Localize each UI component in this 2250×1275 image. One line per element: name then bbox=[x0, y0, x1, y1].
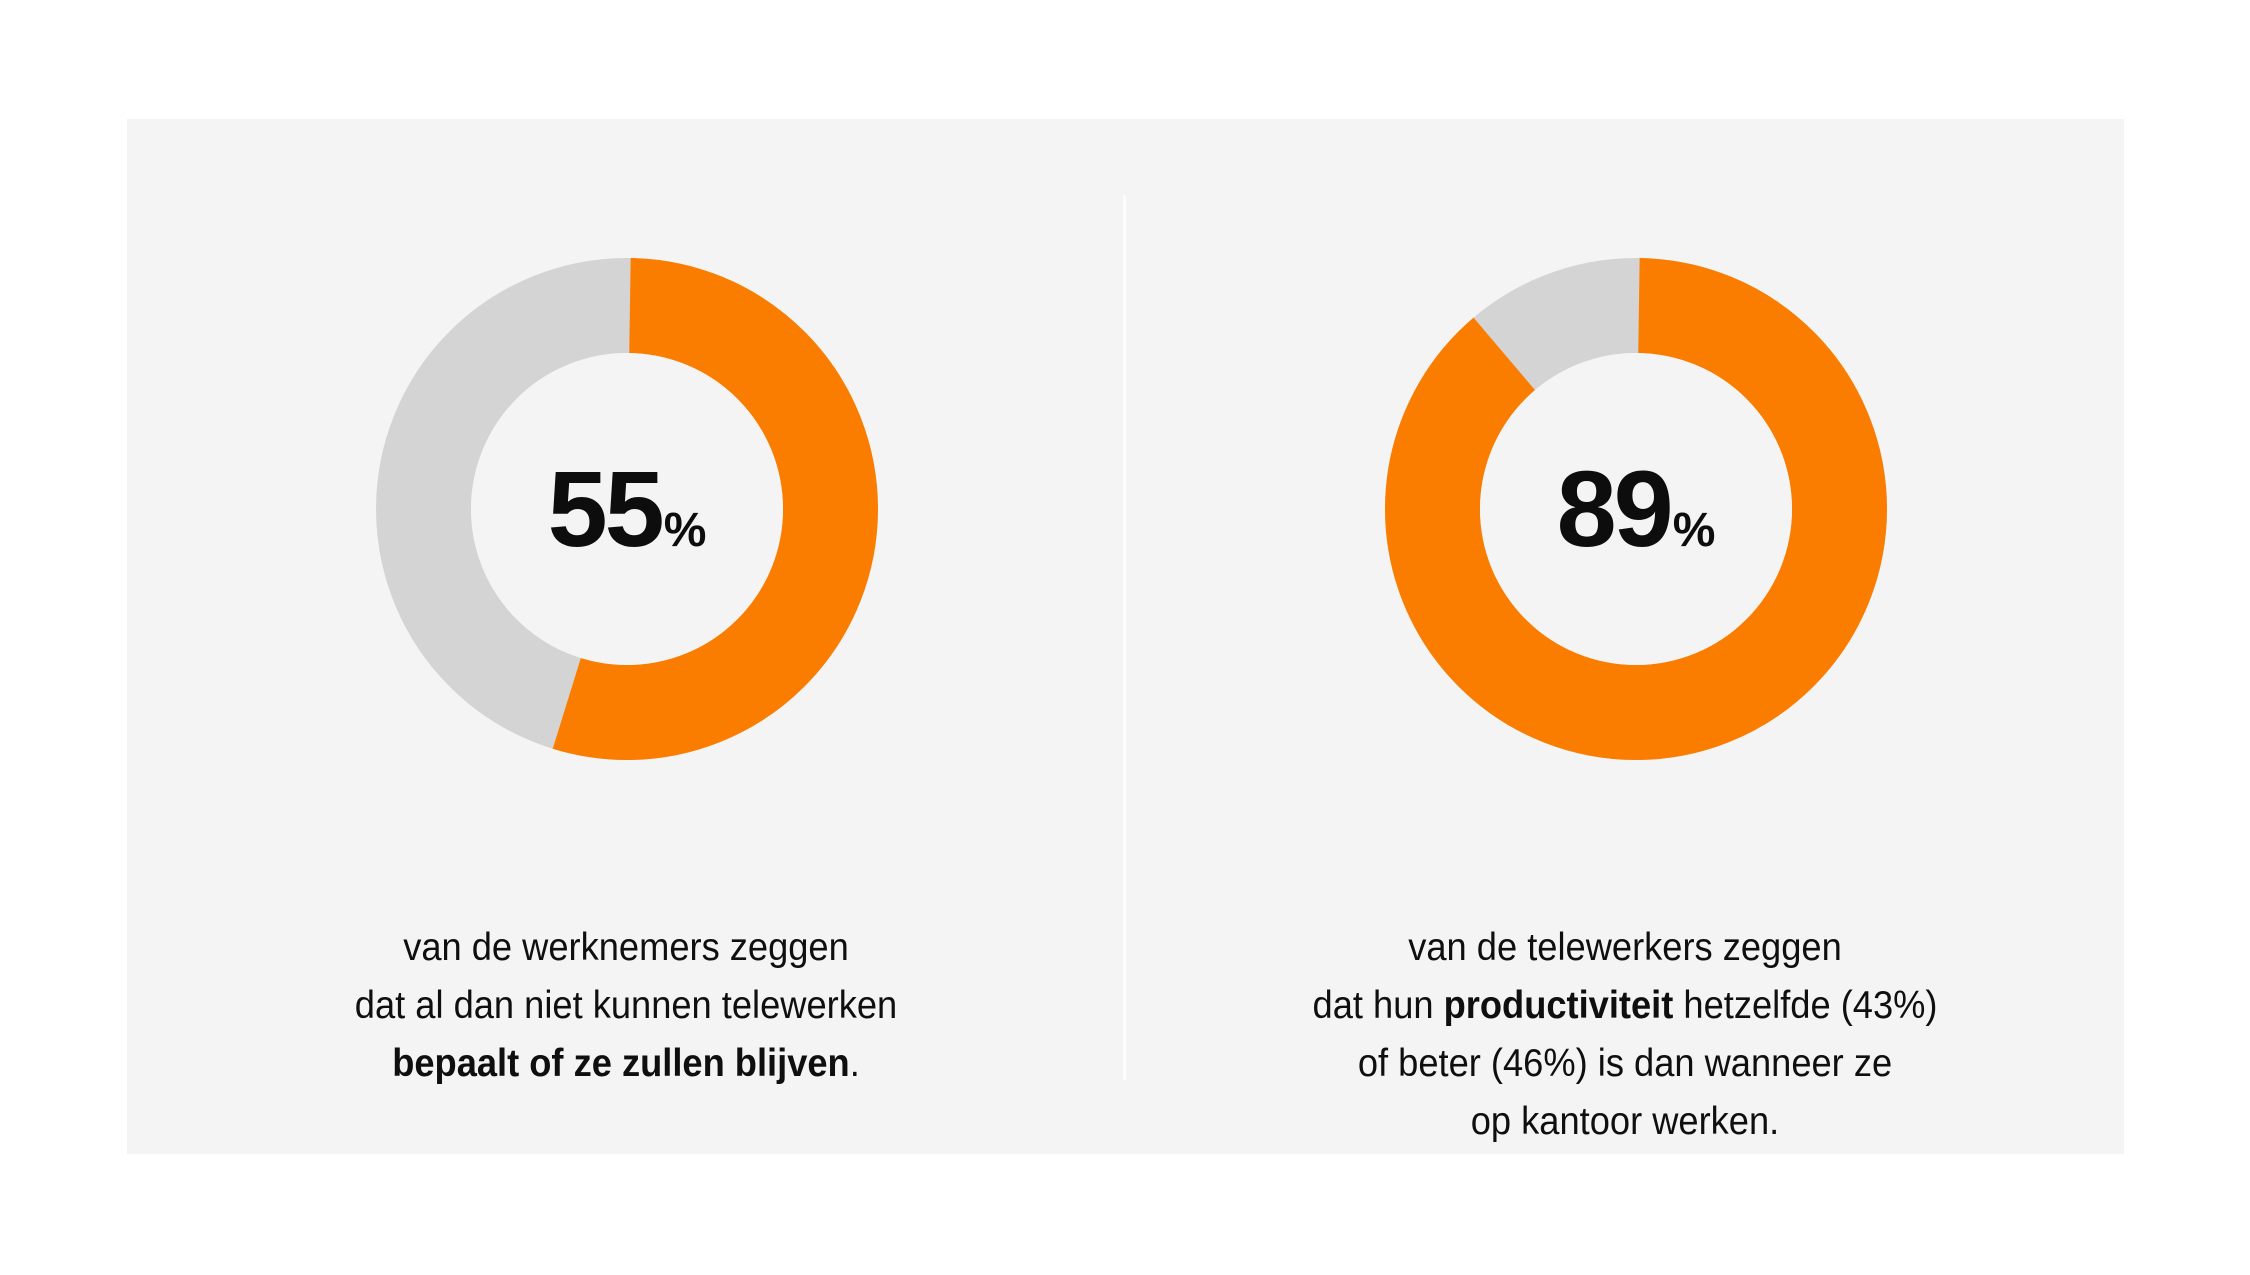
donut-chart-55: 55 % bbox=[376, 258, 878, 760]
donut-hole bbox=[1480, 353, 1792, 665]
caption-line-emphasis: bepaalt of ze zullen blijven. bbox=[162, 1035, 1090, 1093]
caption-line: dat al dan niet kunnen telewerken bbox=[162, 977, 1090, 1035]
caption-line: van de werknemers zeggen bbox=[162, 919, 1090, 977]
caption-telewerkers: van de telewerkers zeggen dat hun produc… bbox=[1161, 919, 2089, 1151]
caption-line: of beter (46%) is dan wanneer ze bbox=[1161, 1035, 2089, 1093]
caption-line: van de telewerkers zeggen bbox=[1161, 919, 2089, 977]
caption-line: op kantoor werken. bbox=[1161, 1093, 2089, 1151]
stat-block-telewerkers: 89 % van de telewerkers zeggen dat hun p… bbox=[1126, 119, 2124, 1154]
donut-svg-55 bbox=[376, 258, 878, 760]
infographic-stage: 55 % van de werknemers zeggen dat al dan… bbox=[0, 0, 2250, 1275]
panel-divider bbox=[1123, 195, 1126, 1080]
donut-svg-89 bbox=[1385, 258, 1887, 760]
caption-text-pre: dat hun bbox=[1313, 984, 1444, 1027]
donut-chart-89: 89 % bbox=[1385, 258, 1887, 760]
caption-bold-phrase: bepaalt of ze zullen blijven bbox=[392, 1042, 849, 1085]
caption-bold-phrase: productiviteit bbox=[1444, 984, 1674, 1027]
caption-period: . bbox=[850, 1042, 860, 1085]
caption-text-post: hetzelfde (43%) bbox=[1673, 984, 1937, 1027]
stat-block-werknemers: 55 % van de werknemers zeggen dat al dan… bbox=[127, 119, 1125, 1154]
donut-hole bbox=[471, 353, 783, 665]
caption-werknemers: van de werknemers zeggen dat al dan niet… bbox=[162, 919, 1090, 1093]
caption-line-emphasis: dat hun productiviteit hetzelfde (43%) bbox=[1161, 977, 2089, 1035]
